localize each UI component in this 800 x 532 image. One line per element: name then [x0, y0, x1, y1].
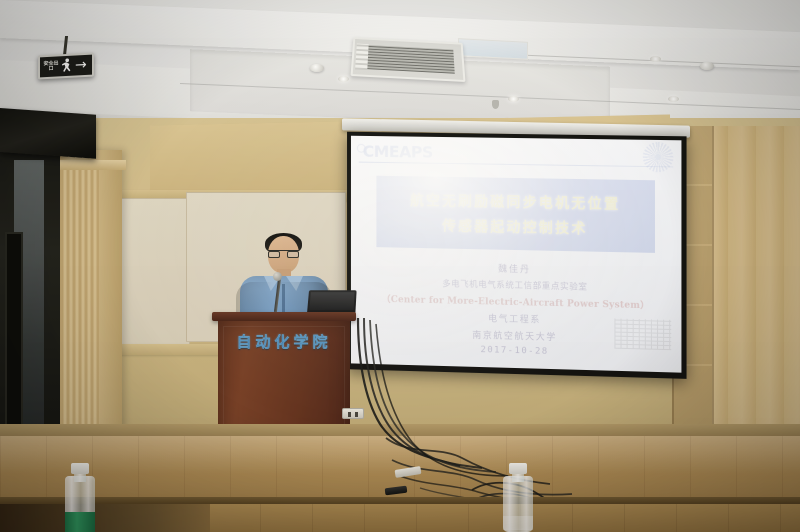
slide-title-line-1: 航空无刷励磁同步电机无位置	[410, 190, 620, 214]
sprinkler-icon	[492, 100, 499, 109]
column-capital	[58, 160, 126, 170]
wall-mounted-display	[0, 108, 96, 159]
laptop-screen	[309, 292, 354, 310]
exit-arrow-icon: →	[75, 58, 87, 73]
bottle-label	[65, 512, 95, 532]
stage-apron-shadow	[0, 504, 210, 532]
slide-header-rule	[359, 162, 674, 168]
slide-title-line-2: 传感器起动控制技术	[442, 215, 588, 238]
downlight-icon	[650, 56, 661, 62]
hvac-vent-icon	[350, 37, 465, 82]
column-fluting	[62, 168, 100, 468]
glasses-icon	[268, 250, 299, 257]
exit-sign: 安全出口 →	[38, 53, 94, 80]
microphone-head-icon	[273, 272, 282, 281]
slide-lab-cn: 多电飞机电气系统工信部重点实验室	[442, 277, 587, 292]
water-bottle-left	[62, 462, 98, 532]
downlight-icon	[338, 76, 349, 82]
ceiling-light-panel	[458, 38, 528, 60]
bottle-label	[503, 516, 533, 530]
hvac-grille	[367, 45, 454, 74]
slide-brand: CMEAPS	[363, 142, 433, 162]
exit-sign-label: 安全出口	[43, 61, 59, 72]
glasses-lens-left	[268, 251, 280, 258]
smoke-detector-icon	[700, 62, 714, 70]
bottle-cap	[71, 463, 89, 474]
slide-title-band: 航空无刷励磁同步电机无位置 传感器起动控制技术	[376, 176, 655, 253]
presenter-laptop	[307, 290, 357, 314]
slide-faint-graphic	[614, 318, 671, 350]
glasses-lens-right	[287, 251, 299, 258]
bottle-cap	[509, 463, 527, 474]
smoke-detector-icon	[310, 64, 324, 72]
slide-watermark-icon	[643, 142, 673, 173]
downlight-icon	[508, 96, 519, 102]
downlight-icon	[668, 96, 679, 102]
slide-lab-en: （Center for More-Electric-Aircraft Power…	[382, 292, 650, 311]
water-bottle-right	[500, 470, 536, 532]
ceiling	[0, 0, 800, 126]
running-person-icon	[61, 58, 73, 75]
lecture-hall-photo: 安全出口 → CMEAPS 航空无刷励磁同步电机无位置 传感器起动控制技术 魏佳…	[0, 0, 800, 532]
slide-presenter-name: 魏佳丹	[498, 262, 531, 276]
